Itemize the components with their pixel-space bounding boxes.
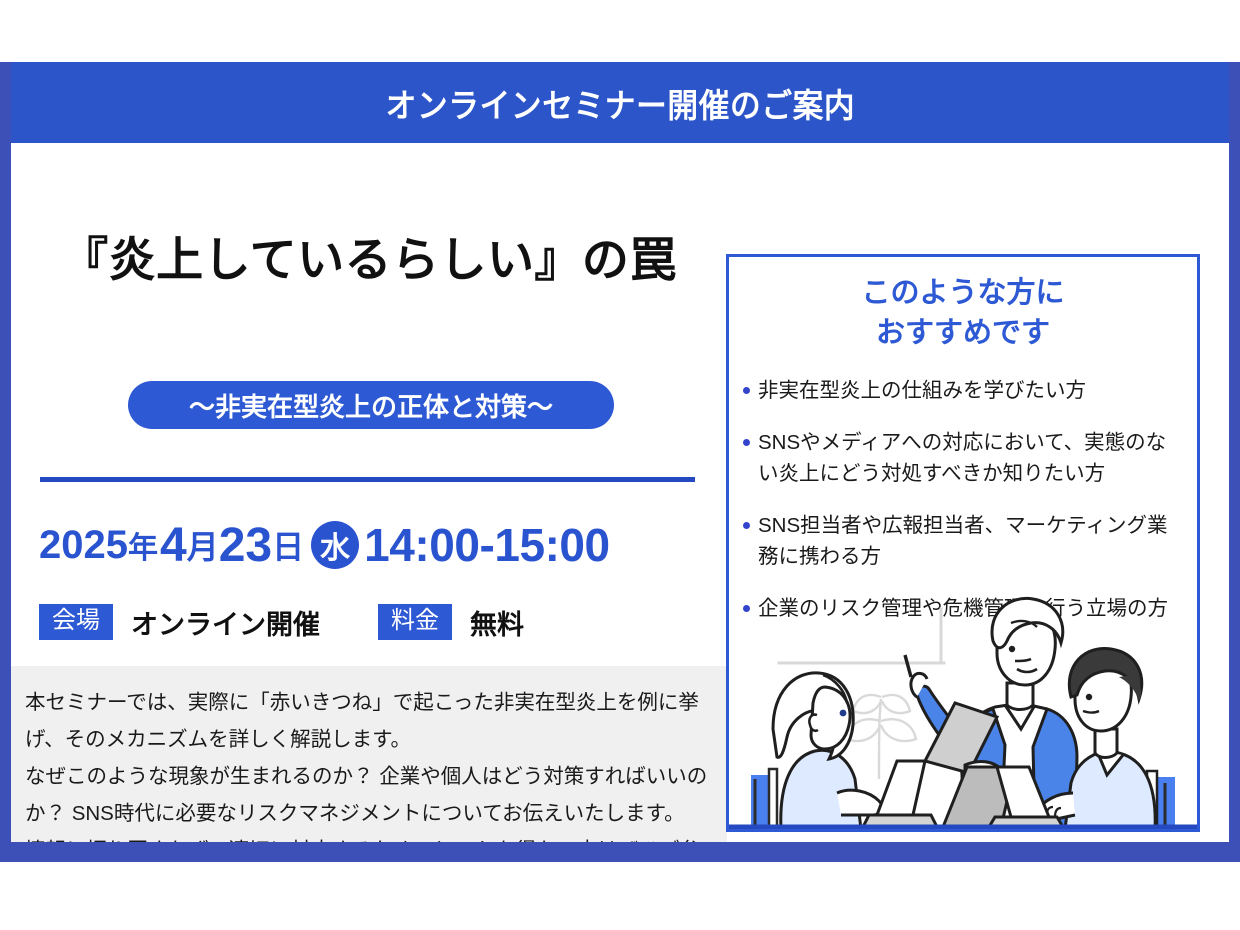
date-year: 2025	[39, 523, 128, 568]
content-area: 『炎上しているらしい』の罠 〜非実在型炎上の正体と対策〜 2025 年 4 月 …	[11, 143, 1229, 842]
info-badge-row: 会場 オンライン開催 料金 無料	[39, 598, 729, 646]
header-band: オンラインセミナー開催のご案内	[0, 62, 1240, 143]
panel-heading-line2: おすすめです	[729, 313, 1197, 353]
page-title: 『炎上しているらしい』の罠	[11, 221, 727, 290]
seminar-flyer: オンラインセミナー開催のご案内 『炎上しているらしい』の罠 〜非実在型炎上の正体…	[0, 62, 1240, 862]
description-line: 本セミナーでは、実際に「赤いきつね」で起こった非実在型炎上を例に挙	[25, 684, 727, 721]
date-year-unit: 年	[128, 523, 158, 567]
left-column: 『炎上しているらしい』の罠 〜非実在型炎上の正体と対策〜 2025 年 4 月 …	[11, 143, 727, 842]
description-line: 情報に振り回されず、適切に対応するためのヒントを得たい方はぜひご参	[25, 832, 727, 842]
date-day: 23	[219, 518, 272, 573]
venue-badge-value: オンライン開催	[131, 603, 320, 642]
weekday-badge: 水	[311, 521, 359, 569]
event-time: 14:00-15:00	[364, 518, 610, 572]
description-line: か？ SNS時代に必要なリスクマネジメントについてお伝えいたします。	[25, 795, 727, 832]
meeting-illustration	[729, 579, 1197, 829]
subtitle-pill: 〜非実在型炎上の正体と対策〜	[128, 381, 614, 429]
date-month: 4	[160, 518, 187, 573]
price-badge-value: 無料	[470, 603, 524, 642]
frame-border-left	[0, 62, 11, 862]
date-month-unit: 月	[187, 522, 219, 568]
description-line: なぜこのような現象が生まれるのか？ 企業や個人はどう対策すればいいの	[25, 758, 727, 795]
subtitle-text: 〜非実在型炎上の正体と対策〜	[189, 387, 553, 424]
header-title: オンラインセミナー開催のご案内	[385, 79, 855, 127]
price-badge-label: 料金	[378, 604, 452, 640]
list-item: SNS担当者や広報担当者、マーケティング業務に携わる方	[743, 510, 1181, 572]
recommended-audience-panel: このような方に おすすめです 非実在型炎上の仕組みを学びたい方 SNSやメディア…	[726, 254, 1200, 832]
list-item: SNSやメディアへの対応において、実態のない炎上にどう対処すべきか知りたい方	[743, 427, 1181, 489]
list-item: 非実在型炎上の仕組みを学びたい方	[743, 375, 1181, 406]
date-day-unit: 日	[272, 522, 304, 568]
venue-badge-label: 会場	[39, 604, 113, 640]
frame-border-right	[1229, 62, 1240, 862]
panel-heading: このような方に おすすめです	[729, 273, 1197, 353]
description-panel: 本セミナーでは、実際に「赤いきつね」で起こった非実在型炎上を例に挙 げ、そのメカ…	[11, 666, 727, 842]
event-datetime: 2025 年 4 月 23 日 水 14:00-15:00	[39, 513, 729, 577]
panel-heading-line1: このような方に	[729, 273, 1197, 313]
description-line: げ、そのメカニズムを詳しく解説します。	[25, 721, 727, 758]
frame-border-bottom	[0, 842, 1240, 862]
divider-rule	[40, 477, 695, 482]
